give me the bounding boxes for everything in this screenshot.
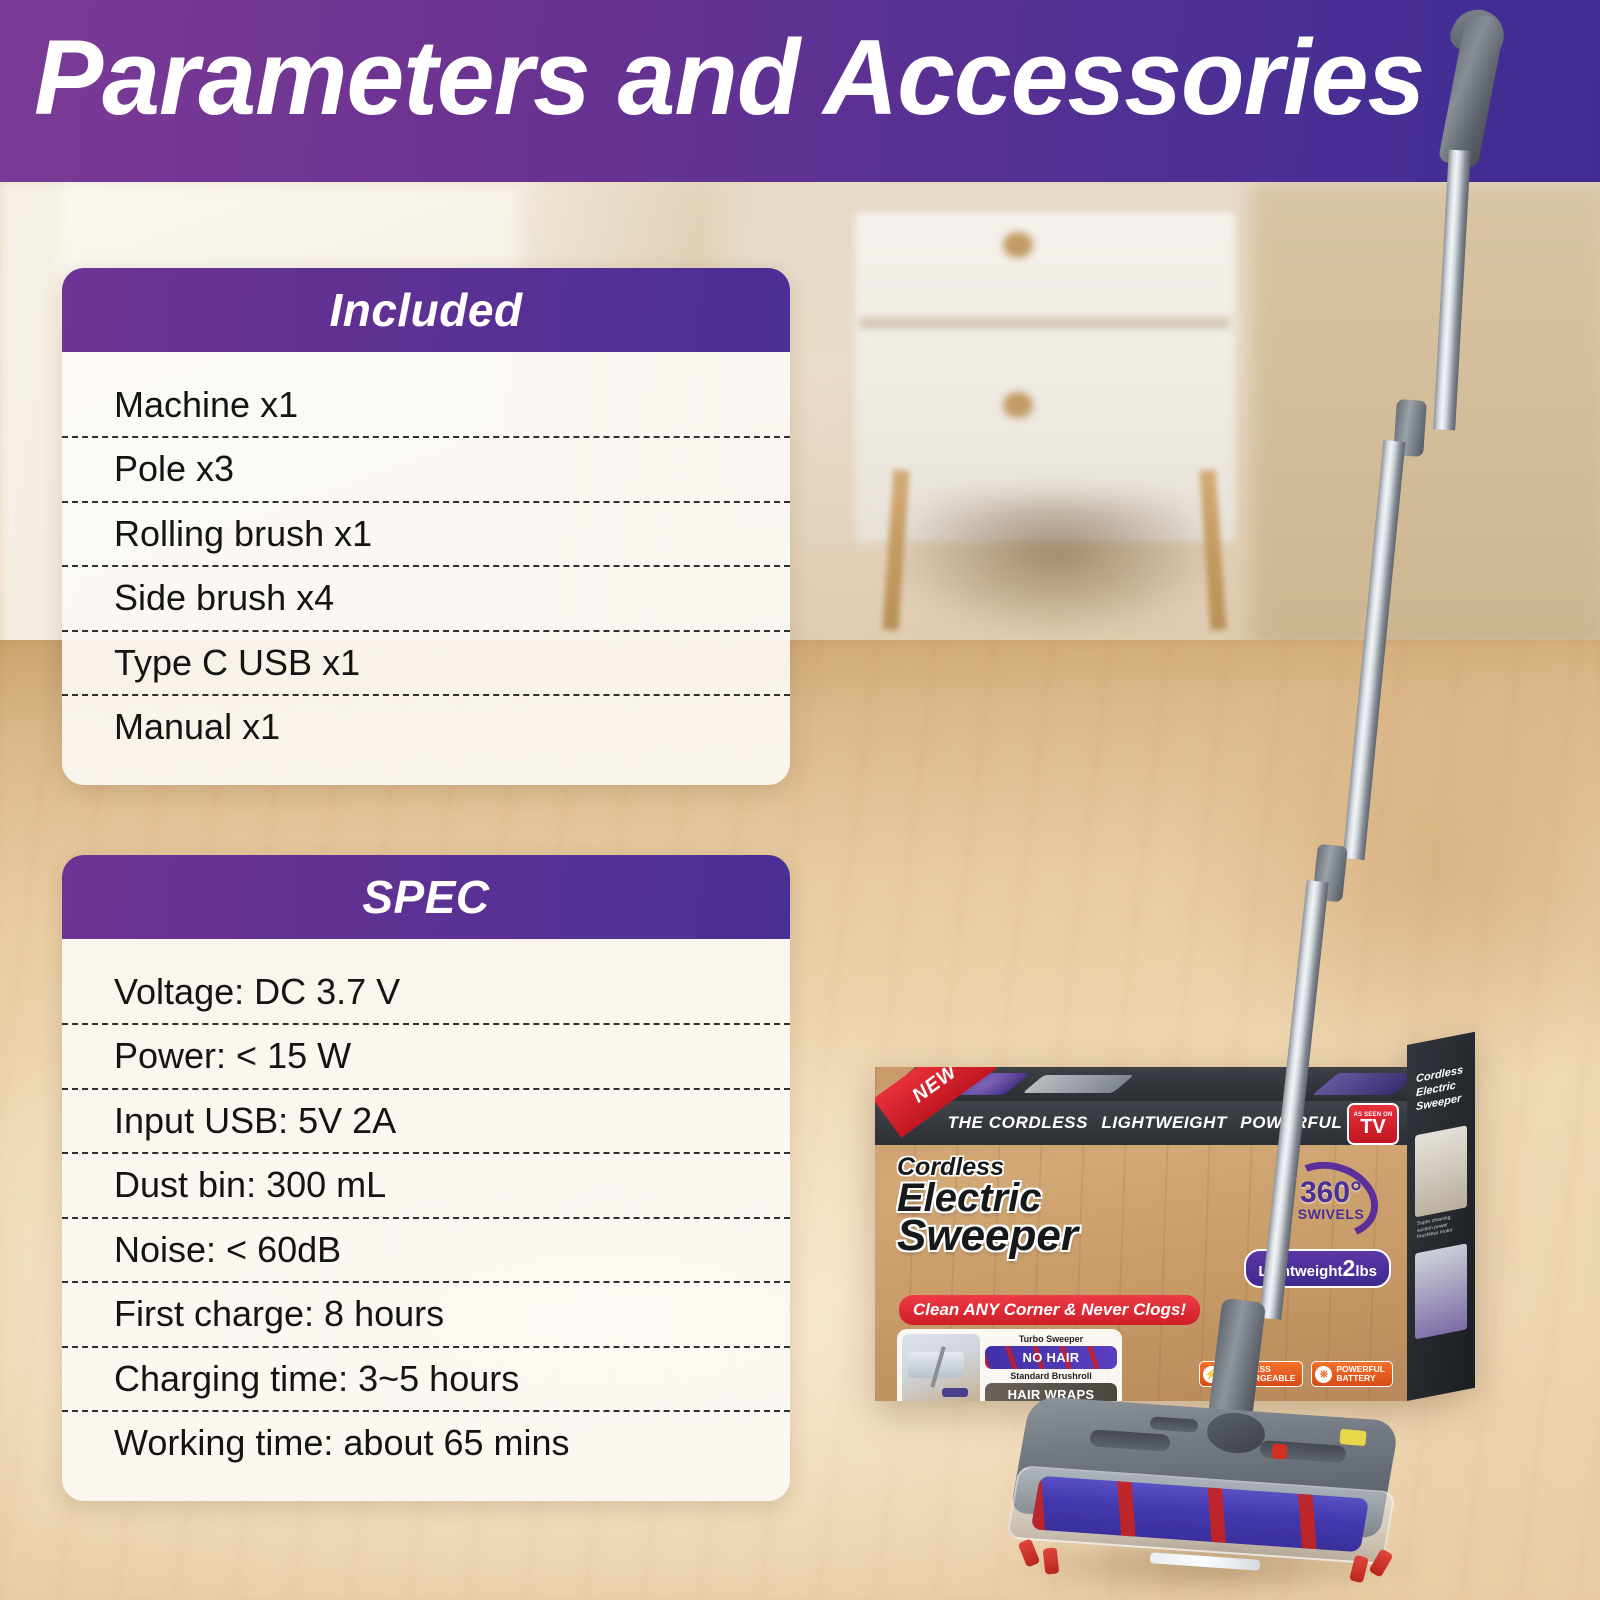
nightstand-drawer-gap: [860, 318, 1230, 328]
package-side-photo-bottom: [1415, 1243, 1467, 1339]
spec-row: Voltage: DC 3.7 V: [62, 961, 790, 1025]
comparison-good-pill: NO HAIR: [985, 1346, 1117, 1369]
lightweight-value: 2: [1343, 1255, 1356, 1281]
powerful-battery-badge: ❋ POWERFUL BATTERY: [1311, 1361, 1393, 1387]
banner-text-cordless: THE CORDLESS: [948, 1113, 1088, 1133]
spec-card-header: SPEC: [62, 855, 790, 939]
photo-sweeper-head: [942, 1388, 968, 1397]
nightstand-shadow: [890, 495, 1220, 635]
included-card: Included Machine x1 Pole x3 Rolling brus…: [62, 268, 790, 785]
swivel-360-badge: 360° SWIVELS: [1283, 1163, 1379, 1237]
comparison-good-pill-text: NO HAIR: [1023, 1350, 1080, 1365]
header-banner: Parameters and Accessories: [0, 0, 1600, 182]
top-flap-product-thumb: [1312, 1073, 1407, 1095]
fan-icon: ❋: [1315, 1366, 1332, 1383]
comparison-room-photo: [902, 1334, 980, 1401]
spec-row: Working time: about 65 mins: [62, 1412, 790, 1474]
tv-badge-main-text: TV: [1360, 1118, 1386, 1136]
comparison-bad-label: Standard Brushroll: [985, 1371, 1117, 1381]
package-product-title: Cordless Electric Sweeper: [897, 1155, 1078, 1258]
spec-row: Charging time: 3~5 hours: [62, 1348, 790, 1412]
comparison-panel: Turbo Sweeper NO HAIR Standard Brushroll…: [897, 1329, 1122, 1401]
package-front-face: THE CORDLESS LIGHTWEIGHT POWERFUL NEW AS…: [875, 1067, 1407, 1401]
swivel-360-text: SWIVELS: [1298, 1206, 1365, 1222]
sweeper-yellow-label: [1339, 1429, 1366, 1446]
nightstand-knob-bottom: [1003, 392, 1033, 418]
list-item: Rolling brush x1: [62, 503, 790, 567]
sweeper-red-release-tab: [1271, 1443, 1287, 1459]
package-side-caption: Super cleaning suction power brushless m…: [1417, 1211, 1467, 1240]
nightstand-knob-top: [1003, 232, 1033, 258]
list-item: Pole x3: [62, 438, 790, 502]
spec-row: Input USB: 5V 2A: [62, 1090, 790, 1154]
package-tagline: Clean ANY Corner & Never Clogs!: [899, 1295, 1200, 1325]
package-feature-banner: THE CORDLESS LIGHTWEIGHT POWERFUL: [875, 1101, 1407, 1145]
included-card-title: Included: [329, 283, 522, 337]
wall-right: [1250, 182, 1600, 682]
package-title-line-3: Sweeper: [897, 1214, 1078, 1258]
spec-card: SPEC Voltage: DC 3.7 V Power: < 15 W Inp…: [62, 855, 790, 1501]
list-item: Type C USB x1: [62, 632, 790, 696]
spec-card-title: SPEC: [362, 870, 489, 924]
spec-row: Noise: < 60dB: [62, 1219, 790, 1283]
powerful-battery-text: POWERFUL BATTERY: [1336, 1365, 1385, 1383]
nightstand: [855, 212, 1235, 542]
page-title: Parameters and Accessories: [34, 24, 1424, 131]
sweeper-side-brush-2: [1043, 1547, 1060, 1574]
lightweight-unit: lbs: [1355, 1263, 1377, 1280]
comparison-good-label: Turbo Sweeper: [985, 1334, 1117, 1344]
product-package-box: CordlessElectricSweeper Super cleaning s…: [875, 1045, 1475, 1401]
swivel-360-number: 360°: [1300, 1179, 1362, 1206]
top-flap-text-block: [1023, 1075, 1134, 1093]
badge-line-2: BATTERY: [1336, 1374, 1385, 1383]
list-item: Side brush x4: [62, 567, 790, 631]
included-card-body: Machine x1 Pole x3 Rolling brush x1 Side…: [62, 352, 790, 785]
package-side-photo-top: [1415, 1125, 1467, 1217]
list-item: Manual x1: [62, 696, 790, 758]
comparison-labels: Turbo Sweeper NO HAIR Standard Brushroll…: [985, 1334, 1117, 1401]
spec-card-body: Voltage: DC 3.7 V Power: < 15 W Input US…: [62, 939, 790, 1501]
included-card-header: Included: [62, 268, 790, 352]
banner-text-lightweight: LIGHTWEIGHT: [1101, 1113, 1227, 1133]
spec-row: First charge: 8 hours: [62, 1283, 790, 1347]
list-item: Machine x1: [62, 374, 790, 438]
spec-row: Power: < 15 W: [62, 1025, 790, 1089]
as-seen-on-tv-badge: AS SEEN ON TV: [1347, 1103, 1399, 1145]
spec-row: Dust bin: 300 mL: [62, 1154, 790, 1218]
